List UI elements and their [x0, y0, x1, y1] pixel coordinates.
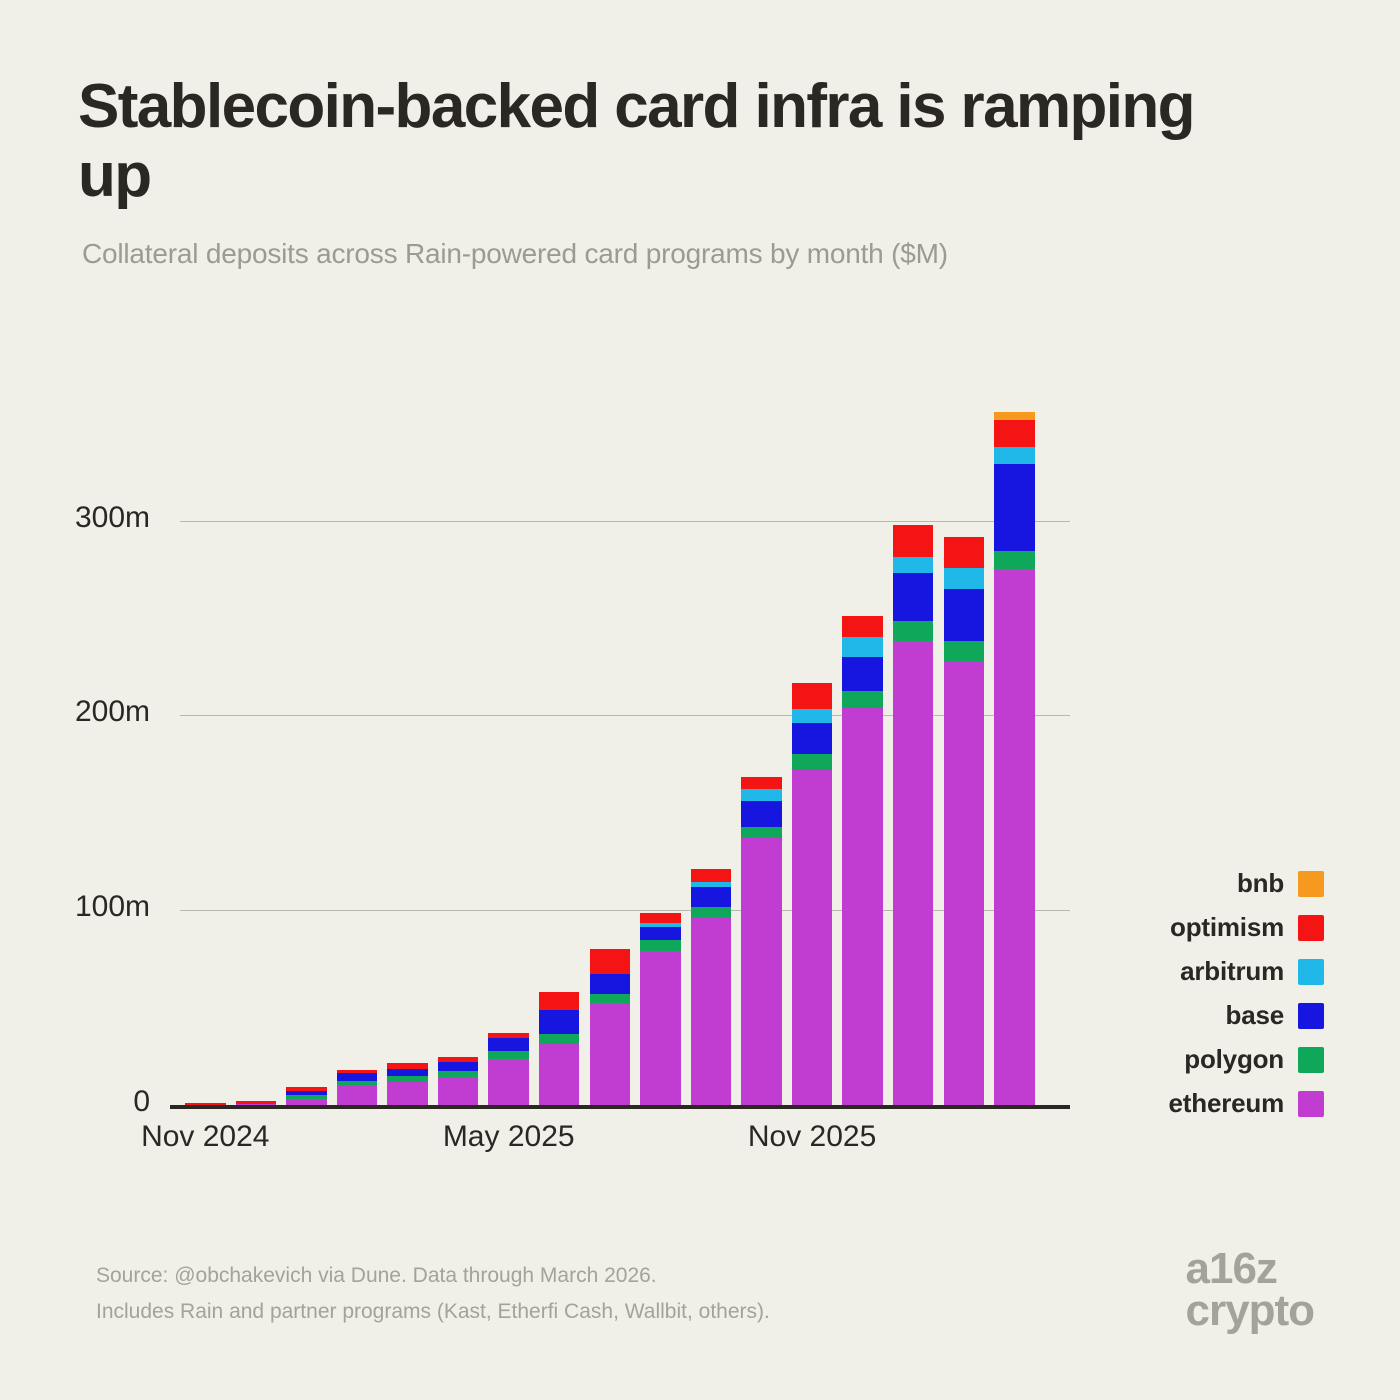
- x-axis-label: Nov 2025: [748, 1120, 876, 1154]
- y-axis-label: 300m: [0, 501, 150, 535]
- bar[interactable]: [488, 1033, 528, 1105]
- bar-segment-ethereum[interactable]: [236, 1104, 276, 1105]
- bar-segment-base[interactable]: [842, 657, 882, 691]
- bar[interactable]: [842, 616, 882, 1105]
- bar[interactable]: [691, 869, 731, 1105]
- legend-swatch-icon: [1298, 959, 1324, 985]
- bar-segment-base[interactable]: [741, 801, 781, 826]
- bar[interactable]: [893, 525, 933, 1105]
- bar-segment-polygon[interactable]: [640, 940, 680, 951]
- bar[interactable]: [387, 1063, 427, 1105]
- bar-segment-arbitrum[interactable]: [741, 789, 781, 801]
- bar-segment-optimism[interactable]: [944, 537, 984, 568]
- bar-segment-base[interactable]: [438, 1062, 478, 1071]
- bar-segment-base[interactable]: [337, 1073, 377, 1081]
- bar[interactable]: [590, 949, 630, 1105]
- source-line-1: Source: @obchakevich via Dune. Data thro…: [96, 1258, 770, 1294]
- brand-line-1: a16z: [1186, 1248, 1314, 1290]
- y-axis-label: 200m: [0, 695, 150, 729]
- bar-segment-base[interactable]: [893, 573, 933, 621]
- bar-segment-base[interactable]: [387, 1069, 427, 1076]
- page-subtitle: Collateral deposits across Rain-powered …: [82, 238, 1262, 270]
- bar[interactable]: [741, 777, 781, 1105]
- bar[interactable]: [438, 1057, 478, 1105]
- bar-segment-ethereum[interactable]: [438, 1077, 478, 1105]
- bar-segment-base[interactable]: [944, 589, 984, 641]
- bar-segment-polygon[interactable]: [994, 551, 1034, 569]
- bar-segment-base[interactable]: [488, 1038, 528, 1051]
- bar[interactable]: [286, 1087, 326, 1105]
- brand-logo: a16z crypto: [1186, 1248, 1314, 1332]
- bar-segment-optimism[interactable]: [539, 992, 579, 1010]
- bar-segment-ethereum[interactable]: [387, 1082, 427, 1105]
- plot-area: 0100m200m300m: [180, 400, 1070, 1105]
- legend-item-polygon[interactable]: polygon: [1169, 1044, 1324, 1075]
- chart-page: Stablecoin-backed card infra is ramping …: [0, 0, 1400, 1400]
- bar-segment-optimism[interactable]: [842, 616, 882, 637]
- bar[interactable]: [539, 992, 579, 1105]
- legend-label: arbitrum: [1180, 956, 1284, 987]
- bar-segment-base[interactable]: [640, 927, 680, 940]
- bar-segment-ethereum[interactable]: [640, 951, 680, 1105]
- bar-segment-arbitrum[interactable]: [842, 637, 882, 656]
- bar-segment-optimism[interactable]: [691, 869, 731, 882]
- bar-segment-arbitrum[interactable]: [944, 568, 984, 589]
- legend-label: ethereum: [1169, 1088, 1284, 1119]
- bar-segment-ethereum[interactable]: [539, 1044, 579, 1105]
- legend-swatch-icon: [1298, 1003, 1324, 1029]
- bar-segment-arbitrum[interactable]: [893, 557, 933, 573]
- legend-label: bnb: [1237, 868, 1284, 899]
- bar-segment-polygon[interactable]: [893, 621, 933, 641]
- bar-segment-base[interactable]: [691, 887, 731, 907]
- bar[interactable]: [640, 913, 680, 1105]
- legend-label: polygon: [1184, 1044, 1284, 1075]
- source-note: Source: @obchakevich via Dune. Data thro…: [96, 1258, 770, 1330]
- legend: bnboptimismarbitrumbasepolygonethereum: [1169, 868, 1324, 1119]
- bar-segment-arbitrum[interactable]: [792, 709, 832, 723]
- bar-segment-ethereum[interactable]: [286, 1099, 326, 1105]
- bar-segment-polygon[interactable]: [741, 827, 781, 838]
- bar-segment-ethereum[interactable]: [893, 641, 933, 1105]
- bar-segment-ethereum[interactable]: [337, 1085, 377, 1105]
- page-title: Stablecoin-backed card infra is ramping …: [78, 72, 1198, 211]
- legend-swatch-icon: [1298, 1047, 1324, 1073]
- legend-swatch-icon: [1298, 915, 1324, 941]
- bar[interactable]: [994, 412, 1034, 1105]
- legend-swatch-icon: [1298, 871, 1324, 897]
- brand-line-2: crypto: [1186, 1290, 1314, 1332]
- bar-segment-optimism[interactable]: [640, 913, 680, 923]
- bar-segment-polygon[interactable]: [842, 691, 882, 708]
- bar-segment-base[interactable]: [994, 464, 1034, 551]
- legend-item-base[interactable]: base: [1169, 1000, 1324, 1031]
- bar-segment-polygon[interactable]: [539, 1034, 579, 1044]
- bar-segment-polygon[interactable]: [590, 994, 630, 1003]
- bar-segment-polygon[interactable]: [488, 1051, 528, 1059]
- bar-segment-ethereum[interactable]: [792, 770, 832, 1105]
- legend-item-bnb[interactable]: bnb: [1169, 868, 1324, 899]
- x-axis-label: May 2025: [443, 1120, 575, 1154]
- x-axis-line: [170, 1105, 1070, 1109]
- bar-segment-optimism[interactable]: [590, 949, 630, 974]
- bar-segment-ethereum[interactable]: [691, 917, 731, 1105]
- bar-segment-base[interactable]: [590, 974, 630, 994]
- bar[interactable]: [337, 1070, 377, 1105]
- bar-segment-optimism[interactable]: [893, 525, 933, 557]
- legend-swatch-icon: [1298, 1091, 1324, 1117]
- bar-segment-ethereum[interactable]: [741, 838, 781, 1105]
- x-axis-label: Nov 2024: [141, 1120, 269, 1154]
- bar-segment-bnb[interactable]: [994, 412, 1034, 420]
- y-axis-label: 0: [0, 1085, 150, 1119]
- legend-item-optimism[interactable]: optimism: [1169, 912, 1324, 943]
- bar-segment-ethereum[interactable]: [944, 662, 984, 1105]
- bar-segment-arbitrum[interactable]: [994, 447, 1034, 464]
- bar-segment-ethereum[interactable]: [994, 569, 1034, 1105]
- bar[interactable]: [792, 683, 832, 1105]
- source-line-2: Includes Rain and partner programs (Kast…: [96, 1294, 770, 1330]
- bar[interactable]: [236, 1101, 276, 1105]
- legend-label: base: [1226, 1000, 1284, 1031]
- bar-segment-ethereum[interactable]: [842, 708, 882, 1105]
- bar-segment-ethereum[interactable]: [590, 1003, 630, 1105]
- y-axis-label: 100m: [0, 890, 150, 924]
- bar-segment-optimism[interactable]: [994, 420, 1034, 447]
- bar-segment-base[interactable]: [539, 1010, 579, 1034]
- bar[interactable]: [185, 1103, 225, 1105]
- bar-segment-optimism[interactable]: [792, 683, 832, 709]
- bar-segment-polygon[interactable]: [792, 754, 832, 770]
- bar-segment-optimism[interactable]: [741, 777, 781, 789]
- bar-segment-base[interactable]: [792, 723, 832, 754]
- legend-item-ethereum[interactable]: ethereum: [1169, 1088, 1324, 1119]
- bar[interactable]: [944, 537, 984, 1105]
- bar-group: [180, 400, 1070, 1105]
- legend-item-arbitrum[interactable]: arbitrum: [1169, 956, 1324, 987]
- bar-segment-ethereum[interactable]: [488, 1059, 528, 1105]
- legend-label: optimism: [1170, 912, 1284, 943]
- bar-segment-optimism[interactable]: [185, 1103, 225, 1105]
- bar-segment-polygon[interactable]: [944, 641, 984, 662]
- bar-segment-polygon[interactable]: [691, 907, 731, 917]
